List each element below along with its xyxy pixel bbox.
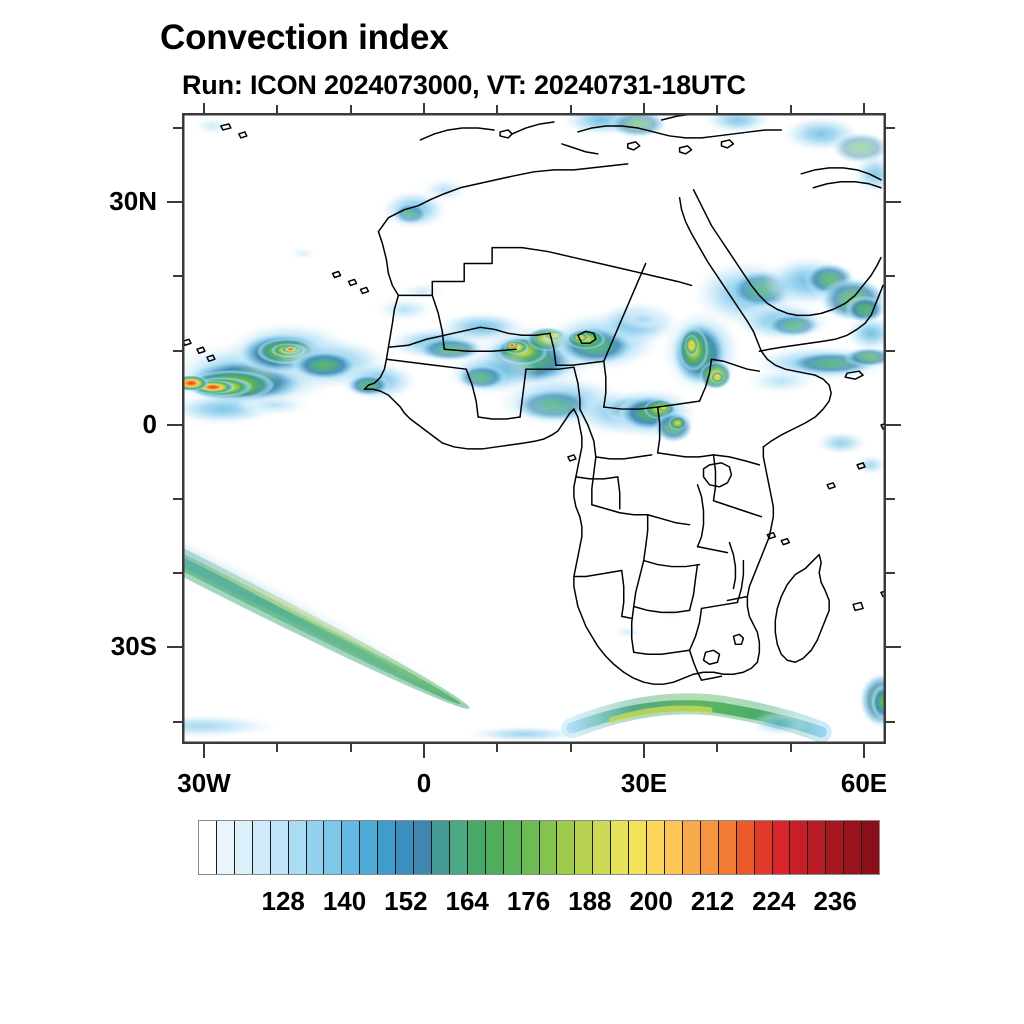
page-title: Convection index — [160, 18, 449, 58]
colorbar-cell — [360, 821, 378, 874]
colorbar[interactable] — [198, 820, 880, 875]
y-major-tick — [167, 424, 182, 426]
y-minor-tick-right — [886, 721, 895, 723]
x-minor-tick — [570, 744, 572, 752]
x-minor-tick-top — [790, 105, 792, 113]
x-axis-label: 30W — [144, 768, 264, 799]
x-minor-tick — [350, 744, 352, 752]
y-minor-tick-right — [886, 127, 895, 129]
y-minor-tick — [173, 498, 182, 500]
colorbar-cell — [629, 821, 647, 874]
x-axis-label: 30E — [584, 768, 704, 799]
y-major-tick-right — [886, 646, 901, 648]
colorbar-cell — [289, 821, 307, 874]
x-major-tick-top — [423, 103, 425, 113]
x-minor-tick-top — [570, 105, 572, 113]
colorbar-cell — [253, 821, 271, 874]
x-minor-tick — [496, 744, 498, 752]
colorbar-cell — [862, 821, 879, 874]
y-minor-tick — [173, 721, 182, 723]
colorbar-cell — [396, 821, 414, 874]
colorbar-tick-label: 236 — [785, 886, 885, 917]
colorbar-cell — [737, 821, 755, 874]
x-axis-label: 60E — [804, 768, 924, 799]
colorbar-cell — [271, 821, 289, 874]
colorbar-cell — [378, 821, 396, 874]
colorbar-cell — [826, 821, 844, 874]
x-major-tick — [423, 744, 425, 758]
x-minor-tick-top — [496, 105, 498, 113]
colorbar-cell — [773, 821, 791, 874]
colorbar-cell — [504, 821, 522, 874]
colorbar-cell — [468, 821, 486, 874]
y-minor-tick-right — [886, 498, 895, 500]
colorbar-cell — [719, 821, 737, 874]
colorbar-cell — [486, 821, 504, 874]
map-plot-area[interactable] — [182, 113, 886, 744]
x-major-tick — [203, 744, 205, 758]
colorbar-cell — [647, 821, 665, 874]
colorbar-cell — [324, 821, 342, 874]
colorbar-cell — [665, 821, 683, 874]
y-axis-label: 0 — [0, 409, 157, 440]
colorbar-cell — [755, 821, 773, 874]
colorbar-cell — [701, 821, 719, 874]
y-minor-tick — [173, 350, 182, 352]
x-major-tick-top — [203, 103, 205, 113]
colorbar-cell — [611, 821, 629, 874]
x-minor-tick — [716, 744, 718, 752]
y-major-tick-right — [886, 424, 901, 426]
colorbar-cell — [575, 821, 593, 874]
colorbar-cell — [522, 821, 540, 874]
colorbar-cell — [540, 821, 558, 874]
x-minor-tick-top — [350, 105, 352, 113]
y-minor-tick-right — [886, 350, 895, 352]
colorbar-cell — [414, 821, 432, 874]
y-minor-tick — [173, 275, 182, 277]
x-major-tick — [643, 744, 645, 758]
y-minor-tick-right — [886, 275, 895, 277]
colorbar-cell — [683, 821, 701, 874]
x-minor-tick-top — [716, 105, 718, 113]
y-major-tick — [167, 201, 182, 203]
colorbar-cell — [217, 821, 235, 874]
colorbar-cell — [557, 821, 575, 874]
y-major-tick-right — [886, 201, 901, 203]
colorbar-cell — [307, 821, 325, 874]
y-minor-tick — [173, 127, 182, 129]
colorbar-cell — [199, 821, 217, 874]
y-major-tick — [167, 646, 182, 648]
colorbar-cell — [450, 821, 468, 874]
colorbar-cell — [432, 821, 450, 874]
x-minor-tick-top — [276, 105, 278, 113]
run-info-subtitle: Run: ICON 2024073000, VT: 20240731-18UTC — [182, 70, 746, 101]
y-axis-label: 30N — [0, 186, 157, 217]
colorbar-cell — [790, 821, 808, 874]
y-minor-tick-right — [886, 572, 895, 574]
colorbar-cell — [342, 821, 360, 874]
colorbar-cell — [844, 821, 862, 874]
convection-index-map — [183, 114, 885, 743]
colorbar-cell — [593, 821, 611, 874]
colorbar-cell — [808, 821, 826, 874]
x-minor-tick — [276, 744, 278, 752]
y-axis-label: 30S — [0, 631, 157, 662]
x-minor-tick — [790, 744, 792, 752]
y-minor-tick — [173, 572, 182, 574]
x-axis-label: 0 — [364, 768, 484, 799]
x-major-tick — [863, 744, 865, 758]
x-major-tick-top — [863, 103, 865, 113]
x-major-tick-top — [643, 103, 645, 113]
colorbar-cell — [235, 821, 253, 874]
